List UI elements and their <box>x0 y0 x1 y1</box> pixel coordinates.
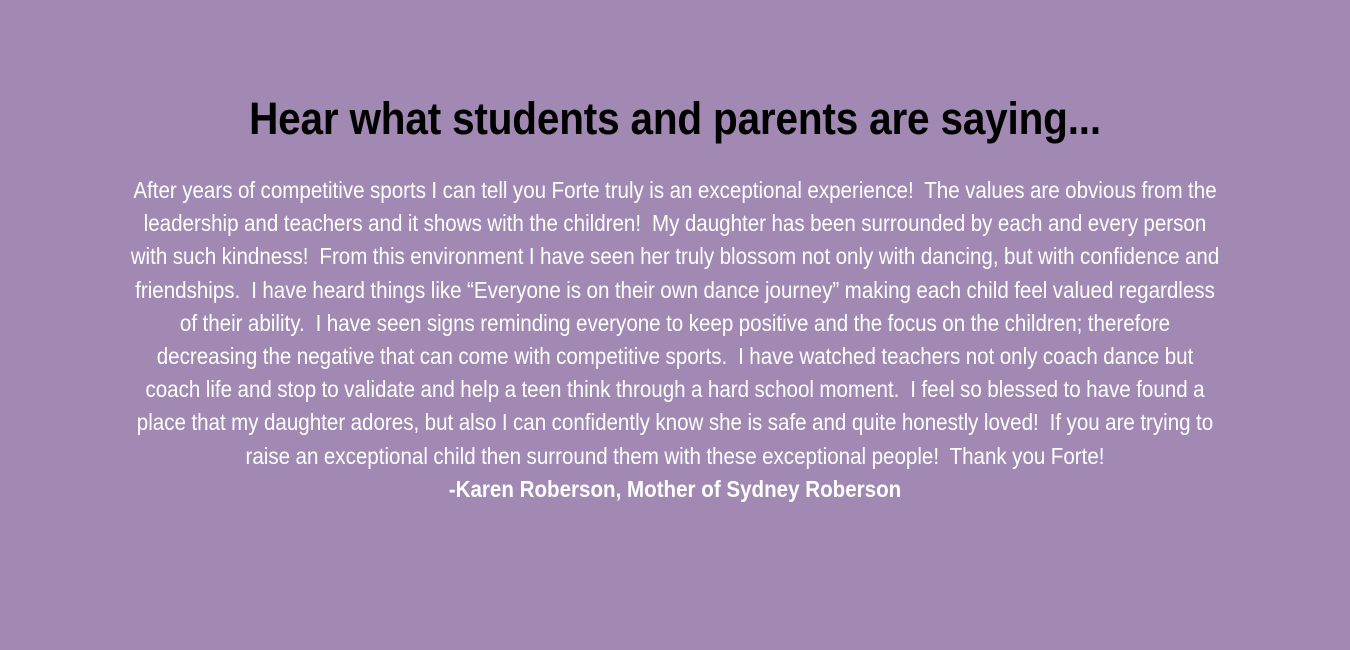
testimonial-attribution: -Karen Roberson, Mother of Sydney Robers… <box>128 473 1222 506</box>
page-title: Hear what students and parents are sayin… <box>68 92 1283 146</box>
testimonial-block: After years of competitive sports I can … <box>50 174 1300 506</box>
testimonial-quote: After years of competitive sports I can … <box>128 174 1222 473</box>
testimonial-slide: Hear what students and parents are sayin… <box>0 0 1350 650</box>
